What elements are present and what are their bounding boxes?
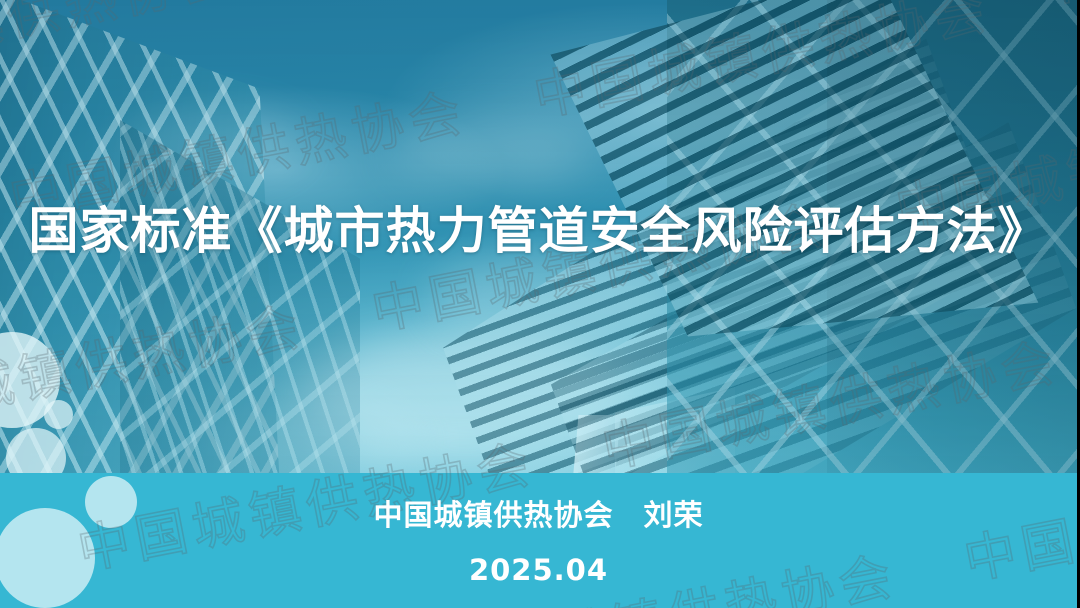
slide-title: 国家标准《城市热力管道安全风险评估方法》	[0, 203, 1077, 259]
presenter-line: 中国城镇供热协会 刘荣	[0, 492, 1077, 534]
slide-date: 2025.04	[0, 553, 1077, 587]
cloud-shape	[390, 120, 590, 190]
title-slide: 中国城镇供热协会 中国城镇供热协会 中国城镇供热协会 中国城镇供热协会 中国城镇…	[0, 0, 1080, 608]
decorative-circle	[44, 400, 73, 429]
